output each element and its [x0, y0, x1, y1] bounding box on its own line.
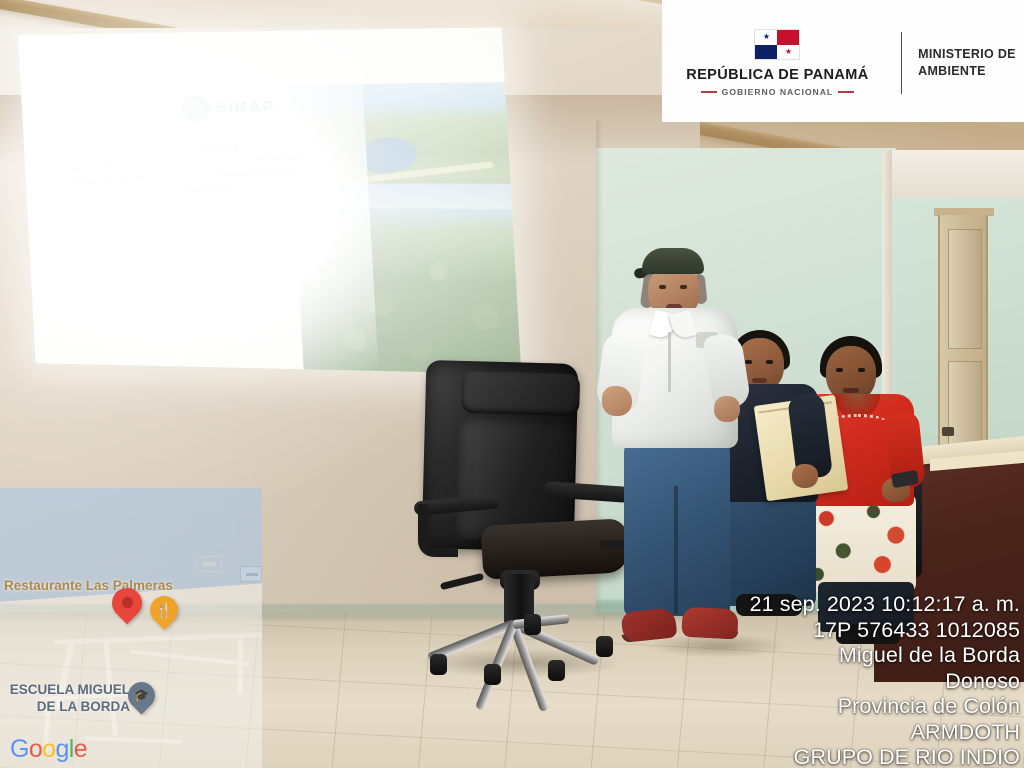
vertical-divider [901, 32, 903, 94]
presenter-eye [680, 285, 687, 289]
map-building-footprint [196, 556, 222, 572]
person-navy-mouth [752, 378, 767, 383]
pin-center [122, 597, 133, 608]
google-letter-e: e [74, 735, 87, 763]
graduation-cap-icon: 🎓 [128, 683, 155, 707]
presenter-jeans [624, 440, 730, 616]
presenter-shirt-placket [668, 332, 671, 392]
national-government-label: GOBIERNO NACIONAL [722, 87, 834, 97]
chair-caster [430, 654, 447, 675]
person-navy-legs [722, 494, 816, 606]
person-red-eye [858, 368, 865, 372]
presenter-hand-left [714, 396, 740, 422]
map-label-school-line-2: DE LA BORDA [0, 699, 130, 716]
google-letter-g: G [10, 735, 29, 763]
google-letter-g2: g [55, 735, 68, 763]
person-navy-eye [745, 360, 752, 364]
flag-quadrant-blue [755, 45, 777, 60]
google-letter-o2: o [42, 735, 55, 763]
republic-title: REPÚBLICA DE PANAMÁ [686, 67, 868, 83]
map-current-location-pin [112, 588, 142, 630]
geostamp-group: GRUPO DE RIO INDIO [750, 745, 1020, 768]
flag-quadrant-white-star: ★ [777, 45, 799, 60]
flag-quadrant-white-star: ★ [755, 30, 777, 45]
government-header-content: ★ ★ REPÚBLICA DE PANAMÁ GOBIERNO NACIONA… [670, 25, 1016, 97]
chair-headrest [461, 371, 580, 416]
dash-right [838, 91, 854, 93]
panama-flag-icon: ★ ★ [754, 29, 800, 60]
door-panel [948, 229, 982, 349]
geostamp-locality: Miguel de la Borda [750, 643, 1020, 669]
sinap-logo-mark [182, 95, 210, 122]
flag-star-red: ★ [785, 48, 792, 56]
sinap-wordmark: SiNAP [215, 99, 276, 118]
presenter-cap [642, 248, 704, 274]
republic-block: ★ ★ REPÚBLICA DE PANAMÁ GOBIERNO NACIONA… [670, 29, 884, 97]
map-restaurant-pin: 🍴 [150, 596, 178, 636]
ministry-line-1: MINISTERIO DE [918, 46, 1016, 63]
projection-screen: SiNAP MINISTERIO DE AMBIENTE SECCIÓN DE … [18, 27, 521, 374]
sinap-logo: SiNAP [182, 95, 276, 122]
map-label-restaurant: Restaurante Las Palmeras [4, 578, 173, 593]
person-red-eye [836, 368, 843, 372]
geostamp-datetime: 21 sep. 2023 10:12:17 a. m. [750, 592, 1020, 618]
person-navy-eye [766, 360, 773, 364]
ministry-block: MINISTERIO DE AMBIENTE [918, 46, 1016, 80]
restaurant-icon: 🍴 [150, 598, 178, 622]
ministry-line-2: AMBIENTE [918, 63, 1016, 80]
photo-screenshot: SiNAP MINISTERIO DE AMBIENTE SECCIÓN DE … [0, 0, 1024, 768]
person-navy-hand [792, 464, 818, 488]
presenter-red-sneaker-right [681, 607, 738, 640]
google-attribution-logo: Google [10, 735, 87, 764]
presenter-eye [659, 285, 666, 289]
chair-height-lever [440, 573, 484, 590]
map-label-school-line-1: ESCUELA MIGUEL [0, 682, 130, 699]
google-letter-o1: o [29, 735, 42, 763]
flag-quadrant-red [777, 30, 799, 45]
national-government-row: GOBIERNO NACIONAL [686, 87, 868, 97]
partition-header [884, 150, 1024, 198]
map-road [238, 634, 243, 694]
chair-caster [524, 614, 541, 635]
presenter-hand-right [602, 386, 632, 416]
geostamp-province: Provincia de Colón [750, 694, 1020, 720]
door-handle-icon [942, 427, 954, 436]
geostamp-overlay: 21 sep. 2023 10:12:17 a. m. 17P 576433 1… [750, 592, 1020, 768]
chair-caster [548, 660, 565, 681]
map-school-pin: 🎓 [128, 682, 155, 720]
geostamp-district: Donoso [750, 669, 1020, 695]
chair-base [420, 616, 620, 670]
government-header-banner: ★ ★ REPÚBLICA DE PANAMÁ GOBIERNO NACIONA… [662, 0, 1024, 122]
map-label-school: ESCUELA MIGUEL DE LA BORDA [0, 682, 130, 716]
geostamp-coordinates: 17P 576433 1012085 [750, 618, 1020, 644]
flag-star-blue: ★ [763, 33, 770, 41]
geostamp-organization: ARMDOTH [750, 720, 1020, 746]
chair-caster [484, 664, 501, 685]
presenter-red-sneaker-left [621, 607, 678, 642]
dash-left [701, 91, 717, 93]
person-red-mouth [843, 388, 859, 393]
